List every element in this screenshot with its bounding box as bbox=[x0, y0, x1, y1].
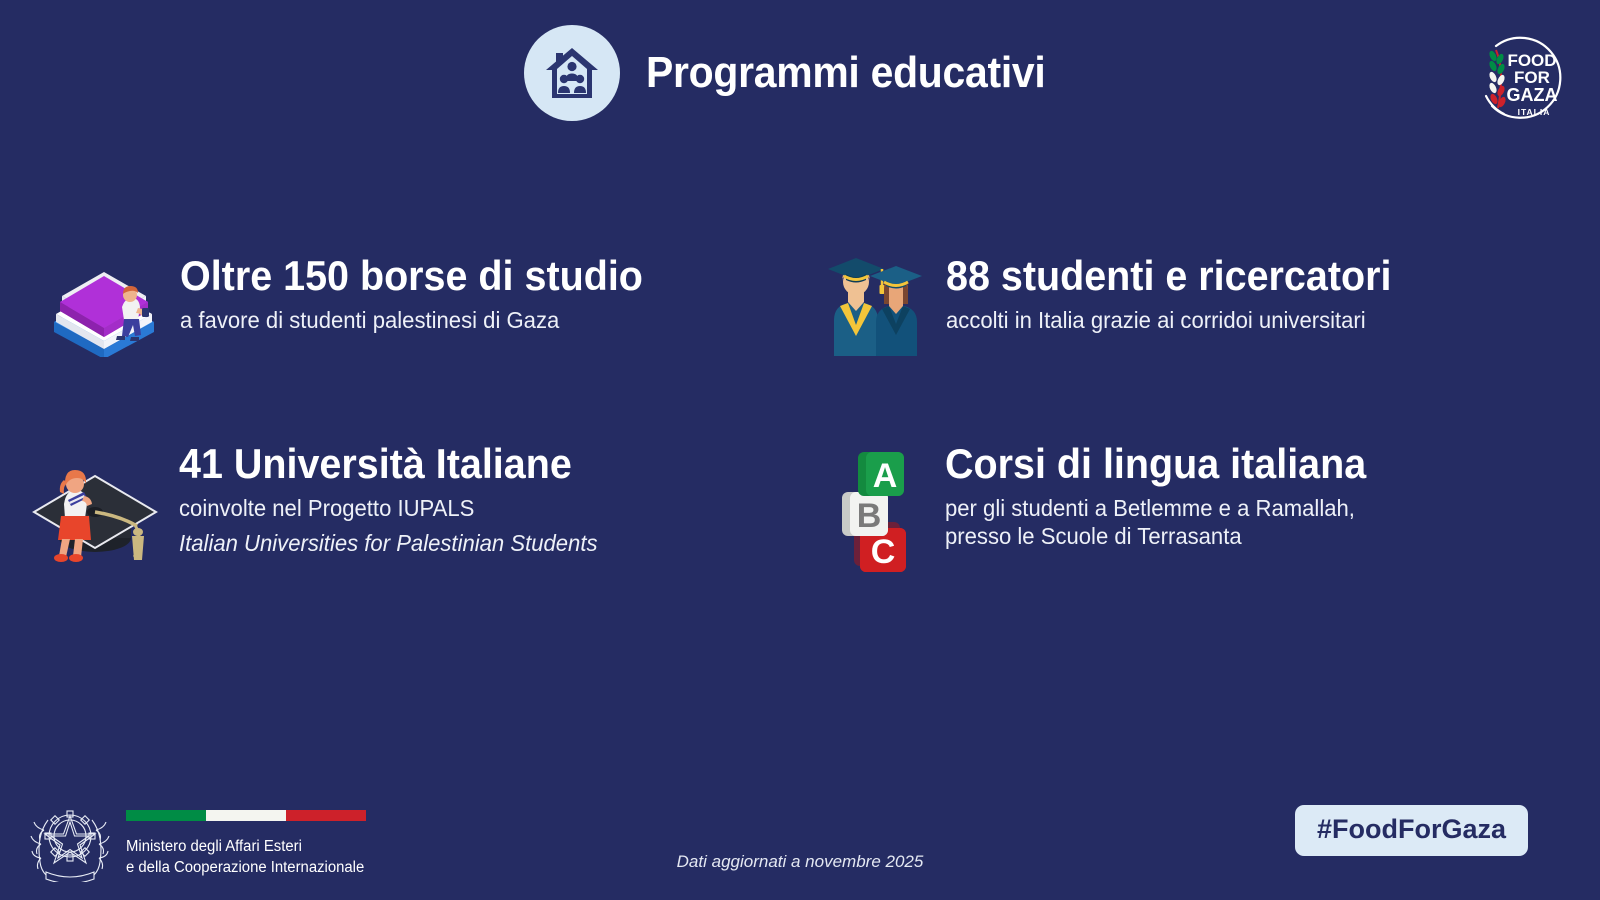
flag-stripe-red bbox=[286, 810, 366, 821]
page-title: Programmi educativi bbox=[646, 48, 1045, 98]
flag-stripe-white bbox=[206, 810, 286, 821]
stat-headline: Oltre 150 borse di studio bbox=[180, 254, 643, 299]
stat-text-universita-italiane: 41 Università Italiane coinvolte nel Pro… bbox=[179, 440, 615, 558]
stat-card-borse-di-studio: Oltre 150 borse di studio a favore di st… bbox=[0, 252, 820, 362]
stat-card-universita-italiane: 41 Università Italiane coinvolte nel Pro… bbox=[0, 440, 820, 578]
stat-text-borse-di-studio: Oltre 150 borse di studio a favore di st… bbox=[180, 252, 672, 334]
stat-subtitle: accolti in Italia grazie ai corridoi uni… bbox=[946, 306, 1401, 335]
stat-headline: Corsi di lingua italiana bbox=[945, 442, 1366, 487]
flag-stripe-green bbox=[126, 810, 206, 821]
stat-subtitle: coinvolte nel Progetto IUPALS bbox=[179, 494, 598, 523]
abc-blocks-icon: C B A bbox=[830, 448, 925, 578]
stat-card-corsi-lingua-italiana: C B A Corsi di lingua italiana per gli s… bbox=[820, 440, 1600, 578]
page-footer: Ministero degli Affari Esteri e della Co… bbox=[0, 760, 1600, 900]
logo-line-4: ITALIA bbox=[1518, 107, 1551, 117]
stat-subtitle: a favore di studenti palestinesi di Gaza bbox=[180, 306, 653, 335]
books-stack-icon bbox=[44, 252, 164, 362]
stat-headline: 41 Università Italiane bbox=[179, 442, 589, 487]
page-header: Programmi educativi bbox=[0, 0, 1600, 145]
graduates-pair-icon bbox=[820, 252, 932, 362]
hashtag-badge[interactable]: #FoodForGaza bbox=[1295, 805, 1528, 856]
stats-grid: Oltre 150 borse di studio a favore di st… bbox=[0, 252, 1600, 578]
abc-block-letter-c: C bbox=[871, 533, 896, 571]
stat-card-studenti-ricercatori: 88 studenti e ricercatori accolti in Ita… bbox=[820, 252, 1600, 362]
stat-subtitle-line2: presso le Scuole di Terrasanta bbox=[945, 522, 1375, 551]
header-inner: Programmi educativi bbox=[524, 25, 1076, 121]
stat-subtitle: per gli studenti a Betlemme e a Ramallah… bbox=[945, 494, 1375, 523]
stat-text-studenti-ricercatori: 88 studenti e ricercatori accolti in Ita… bbox=[946, 252, 1420, 334]
stats-row-1: Oltre 150 borse di studio a favore di st… bbox=[0, 252, 1600, 362]
stat-headline: 88 studenti e ricercatori bbox=[946, 254, 1391, 299]
stat-subtitle-italic: Italian Universities for Palestinian Stu… bbox=[179, 529, 598, 558]
header-icon-badge bbox=[524, 25, 620, 121]
graduation-cap-icon bbox=[28, 440, 163, 570]
stats-row-2: 41 Università Italiane coinvolte nel Pro… bbox=[0, 440, 1600, 578]
logo-line-3: GAZA bbox=[1507, 85, 1558, 105]
abc-block-letter-a: A bbox=[873, 457, 898, 495]
food-for-gaza-logo: FOOD FOR GAZA ITALIA bbox=[1466, 26, 1572, 132]
stat-text-corsi-lingua-italiana: Corsi di lingua italiana per gli student… bbox=[945, 440, 1393, 551]
abc-block-letter-b: B bbox=[857, 497, 882, 535]
italian-flag-bar bbox=[126, 810, 366, 821]
house-family-icon bbox=[540, 41, 604, 105]
